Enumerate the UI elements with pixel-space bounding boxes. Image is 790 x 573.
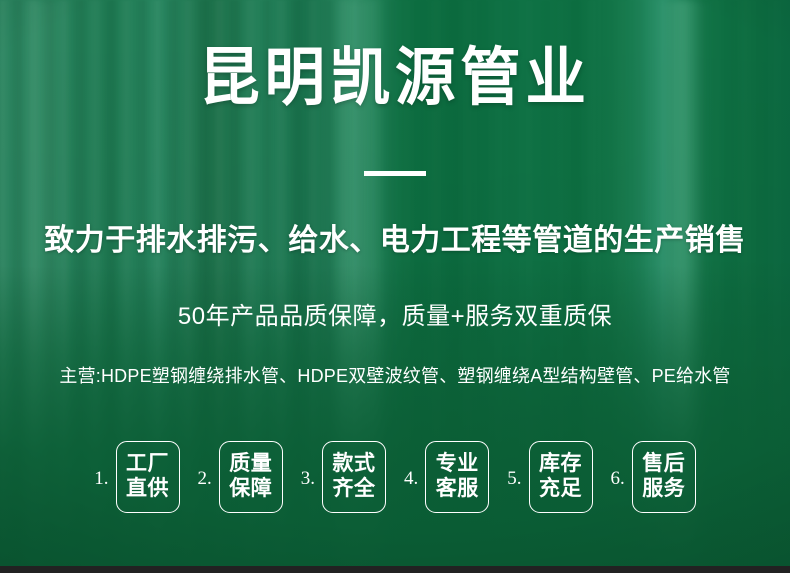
feature-label-line2: 齐全 — [333, 477, 376, 502]
banner-tagline: 致力于排水排污、给水、电力工程等管道的生产销售 — [0, 223, 790, 259]
feature-label-line2: 直供 — [126, 477, 169, 502]
feature-item-1: 1. 工厂 直供 — [94, 441, 179, 513]
feature-label-line1: 专业 — [436, 452, 479, 477]
feature-label-line2: 保障 — [229, 477, 272, 502]
product-list: 主营:HDPE塑钢缠绕排水管、HDPE双壁波纹管、塑钢缠绕A型结构壁管、PE给水… — [0, 366, 790, 388]
feature-number: 2. — [198, 467, 212, 488]
feature-item-2: 2. 质量 保障 — [198, 441, 283, 513]
feature-badge: 库存 充足 — [529, 441, 593, 513]
feature-number: 6. — [611, 467, 625, 488]
feature-label-line1: 库存 — [539, 452, 582, 477]
feature-number: 4. — [404, 467, 418, 488]
feature-label-line2: 充足 — [539, 477, 582, 502]
feature-number: 5. — [507, 467, 521, 488]
feature-list: 1. 工厂 直供 2. 质量 保障 3. 款式 齐全 — [0, 441, 790, 513]
feature-item-5: 5. 库存 充足 — [507, 441, 592, 513]
quality-promise: 50年产品品质保障，质量+服务双重质保 — [0, 303, 790, 332]
feature-label-line1: 质量 — [229, 452, 272, 477]
bottom-edge-bar — [0, 566, 790, 573]
feature-badge: 专业 客服 — [425, 441, 489, 513]
feature-badge: 工厂 直供 — [116, 441, 180, 513]
feature-label-line2: 服务 — [642, 477, 685, 502]
feature-badge: 款式 齐全 — [322, 441, 386, 513]
title-divider — [364, 171, 426, 176]
feature-item-4: 4. 专业 客服 — [404, 441, 489, 513]
feature-number: 3. — [301, 467, 315, 488]
feature-badge: 售后 服务 — [632, 441, 696, 513]
promotional-banner: 昆明凯源管业 致力于排水排污、给水、电力工程等管道的生产销售 50年产品品质保障… — [0, 0, 790, 573]
company-title: 昆明凯源管业 — [16, 47, 774, 110]
feature-label-line2: 客服 — [436, 477, 479, 502]
feature-item-3: 3. 款式 齐全 — [301, 441, 386, 513]
feature-item-6: 6. 售后 服务 — [611, 441, 696, 513]
feature-label-line1: 款式 — [333, 452, 376, 477]
feature-label-line1: 工厂 — [126, 452, 169, 477]
banner-content: 昆明凯源管业 致力于排水排污、给水、电力工程等管道的生产销售 50年产品品质保障… — [0, 0, 790, 573]
feature-number: 1. — [94, 467, 108, 488]
feature-badge: 质量 保障 — [219, 441, 283, 513]
feature-label-line1: 售后 — [642, 452, 685, 477]
